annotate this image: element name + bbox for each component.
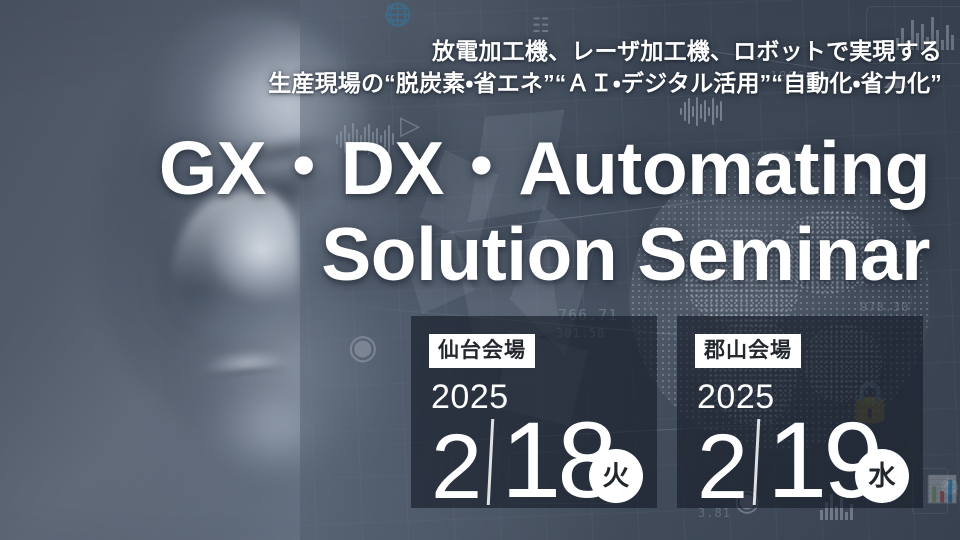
event-date-row: 2 19 水	[695, 410, 907, 509]
event-weekday-badge: 火	[589, 449, 643, 503]
date-separator-icon	[487, 419, 495, 505]
seminar-banner: 766.71 301.58 978.30 1896.49 3.81 🌐 🔒 ▷ …	[0, 0, 960, 540]
page-title-line-1: GX・DX・Automating	[0, 126, 930, 210]
banner-content: 放電加工機、レーザ加工機、ロボットで実現する 生産現場の“脱炭素・省エネ”“ＡＩ…	[0, 0, 960, 540]
event-month: 2	[697, 425, 746, 510]
venue-badge: 仙台会場	[429, 334, 535, 368]
event-panel-koriyama: 郡山会場 2025 2 19 水	[677, 316, 923, 508]
event-weekday-badge: 水	[855, 449, 909, 503]
event-date-panels: 仙台会場 2025 2 18 火 郡山会場 2025 2 19 水	[411, 316, 923, 508]
subtitle-line-1: 放電加工機、レーザ加工機、ロボットで実現する	[0, 36, 942, 66]
subtitle-line-2: 生産現場の“脱炭素・省エネ”“ＡＩ・デジタル活用”“自動化・省力化”	[0, 68, 942, 98]
event-date-row: 2 18 火	[429, 410, 641, 509]
page-title-line-2: Solution Seminar	[0, 212, 930, 296]
date-separator-icon	[753, 419, 761, 505]
event-panel-sendai: 仙台会場 2025 2 18 火	[411, 316, 657, 508]
event-month: 2	[431, 425, 480, 510]
venue-badge: 郡山会場	[695, 334, 801, 368]
